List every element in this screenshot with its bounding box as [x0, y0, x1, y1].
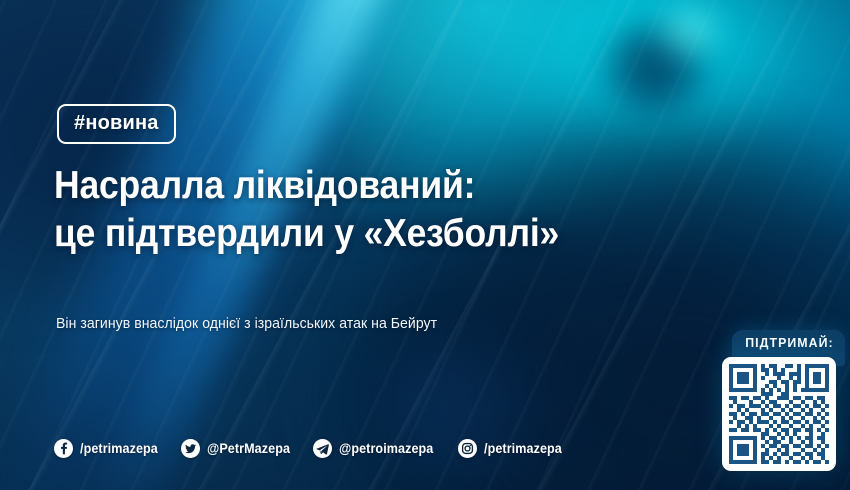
facebook-icon	[54, 439, 73, 458]
social-item-twitter[interactable]: @PetrMazepa	[181, 439, 296, 458]
social-handle-instagram: /petrimazepa	[484, 441, 562, 456]
qr-code	[729, 364, 829, 464]
social-handle-telegram: @petroimazepa	[339, 441, 433, 456]
social-item-facebook[interactable]: /petrimazepa	[54, 439, 164, 458]
social-item-instagram[interactable]: /petrimazepa	[458, 439, 568, 458]
card-content: #новина Насралла ліквідований: це підтве…	[0, 0, 850, 490]
social-links-row: /petrimazepa @PetrMazepa @petroimazepa	[54, 437, 567, 459]
instagram-icon	[458, 439, 477, 458]
news-tag-badge: #новина	[57, 104, 176, 144]
twitter-icon	[181, 439, 200, 458]
social-item-telegram[interactable]: @petroimazepa	[313, 439, 441, 458]
news-card: #новина Насралла ліквідований: це підтве…	[0, 0, 850, 490]
social-handle-twitter: @PetrMazepa	[207, 441, 290, 456]
headline-line-1: Насралла ліквідований:	[54, 162, 655, 210]
social-handle-facebook: /petrimazepa	[80, 441, 158, 456]
subtitle: Він загинув внаслідок однієї з ізраїльсь…	[56, 316, 437, 332]
qr-code-card[interactable]	[722, 357, 836, 471]
headline: Насралла ліквідований: це підтвердили у …	[54, 162, 655, 258]
telegram-icon	[313, 439, 332, 458]
headline-line-2: це підтвердили у «Хезболлі»	[54, 210, 655, 258]
